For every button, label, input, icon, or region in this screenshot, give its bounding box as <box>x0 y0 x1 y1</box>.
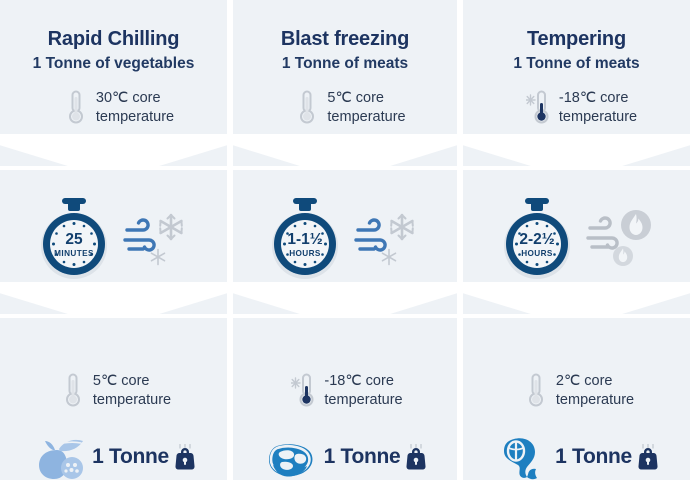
end-temperature-value: 2℃ core <box>556 373 613 389</box>
timer-value: 2-2½ <box>519 231 554 248</box>
end-temperature-readout: 5℃ coretemperature <box>60 372 171 410</box>
flame-badge-small <box>613 246 633 266</box>
column-subtitle: 1 Tonne of meats <box>282 55 408 73</box>
process-comparison-infographic: Rapid Chilling 1 Tonne of vegetables 30℃… <box>0 0 690 480</box>
cold-airflow-icon <box>123 202 197 276</box>
start-temperature-readout: 30℃ coretemperature <box>63 89 174 127</box>
end-temperature-unit: temperature <box>324 392 402 408</box>
column-rapid-chilling-header: Rapid Chilling 1 Tonne of vegetables 30℃… <box>0 0 230 168</box>
start-temperature-text: 30℃ coretemperature <box>96 89 174 127</box>
end-temperature-text: -18℃ coretemperature <box>324 372 402 410</box>
weight-icon <box>174 444 196 470</box>
thermometer-cool-icon <box>60 372 86 408</box>
thermometer-warm-icon <box>63 89 89 125</box>
thermometer-cool-icon <box>523 372 549 408</box>
start-temperature-value: -18℃ core <box>559 90 628 106</box>
cold-airflow-icon <box>354 202 428 276</box>
stopwatch-icon: 1-1½ HOURS <box>262 194 348 284</box>
steak-icon <box>263 432 321 480</box>
result-blast-freezing: -18℃ coretemperature 1 Tonne <box>230 316 460 480</box>
result-rapid-chilling: 5℃ coretemperature <box>0 316 230 480</box>
thermometer-cool-icon <box>294 89 320 125</box>
start-temperature-unit: temperature <box>96 109 174 125</box>
page-title: Tempering <box>527 28 626 50</box>
stopwatch-icon: 2-2½ HOURS <box>494 194 580 284</box>
start-temperature-value: 30℃ core <box>96 90 161 106</box>
column-subtitle: 1 Tonne of vegetables <box>33 55 195 73</box>
end-temperature-text: 5℃ coretemperature <box>93 372 171 410</box>
stopwatch-icon: 25 MINUTES <box>31 194 117 284</box>
load-label: 1 Tonne <box>92 445 169 469</box>
warm-airflow-icon <box>586 202 660 276</box>
start-temperature-text: 5℃ coretemperature <box>327 89 405 127</box>
timer-unit: HOURS <box>521 249 553 258</box>
start-temperature-readout: -18℃ coretemperature <box>526 89 637 127</box>
flame-badge-large <box>621 210 651 240</box>
load-label: 1 Tonne <box>555 445 632 469</box>
column-subtitle: 1 Tonne of meats <box>513 55 639 73</box>
timer-value: 1-1½ <box>287 231 322 248</box>
start-temperature-unit: temperature <box>327 109 405 125</box>
result-tempering: 2℃ coretemperature 1 Tonne <box>460 316 690 480</box>
timer-unit: HOURS <box>289 249 321 258</box>
load-readout: 1 Tonne <box>31 432 196 480</box>
load-label: 1 Tonne <box>324 445 401 469</box>
timer-unit: MINUTES <box>54 249 94 258</box>
end-temperature-unit: temperature <box>93 392 171 408</box>
thermometer-frozen-icon <box>526 89 552 125</box>
load-readout: 1 Tonne <box>263 432 428 480</box>
start-temperature-value: 5℃ core <box>327 90 384 106</box>
start-temperature-unit: temperature <box>559 109 637 125</box>
end-temperature-value: 5℃ core <box>93 373 150 389</box>
end-temperature-readout: 2℃ coretemperature <box>523 372 634 410</box>
end-temperature-text: 2℃ coretemperature <box>556 372 634 410</box>
process-tempering: 2-2½ HOURS <box>460 168 690 316</box>
weight-icon <box>637 444 659 470</box>
page-title: Rapid Chilling <box>48 28 180 50</box>
process-rapid-chilling: 25 MINUTES <box>0 168 230 316</box>
start-temperature-readout: 5℃ coretemperature <box>294 89 405 127</box>
weight-icon <box>405 444 427 470</box>
load-readout: 1 Tonne <box>494 432 659 480</box>
ham-leg-icon <box>494 432 552 480</box>
end-temperature-unit: temperature <box>556 392 634 408</box>
end-temperature-readout: -18℃ coretemperature <box>291 372 402 410</box>
end-temperature-value: -18℃ core <box>324 373 393 389</box>
column-tempering-header: Tempering 1 Tonne of meats <box>460 0 690 168</box>
page-title: Blast freezing <box>281 28 409 50</box>
start-temperature-text: -18℃ coretemperature <box>559 89 637 127</box>
vegetables-icon <box>31 432 89 480</box>
process-blast-freezing: 1-1½ HOURS <box>230 168 460 316</box>
column-blast-freezing-header: Blast freezing 1 Tonne of meats 5℃ coret… <box>230 0 460 168</box>
thermometer-frozen-icon <box>291 372 317 408</box>
timer-value: 25 <box>65 231 83 248</box>
